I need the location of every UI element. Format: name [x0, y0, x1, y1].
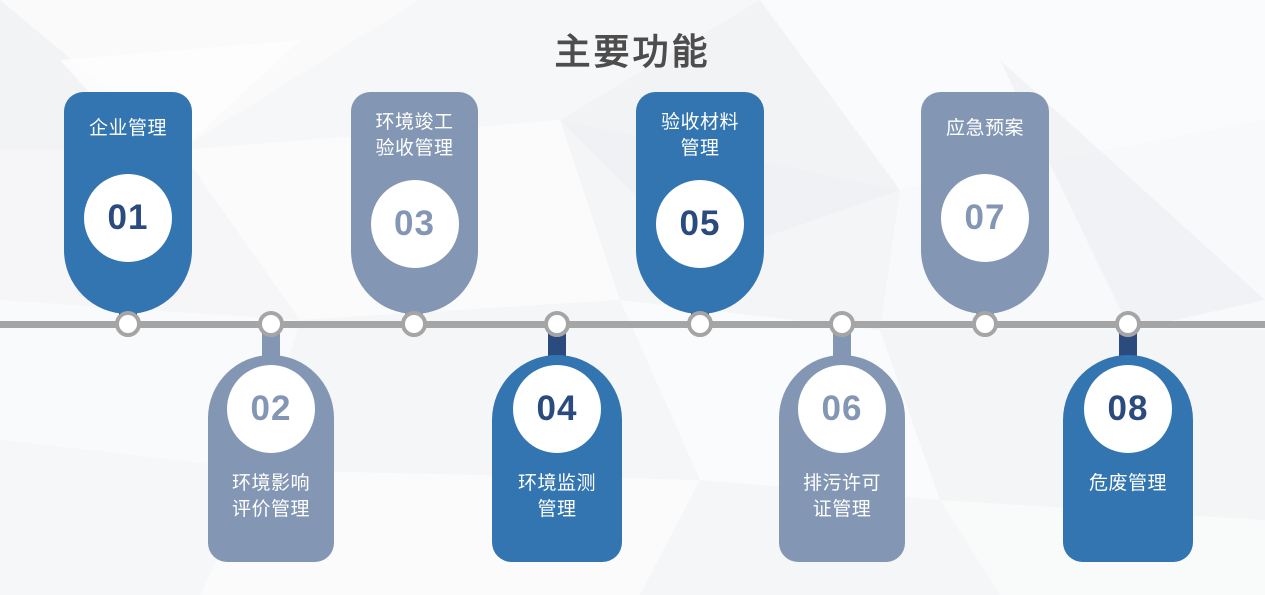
feature-card-06[interactable]: 06排污许可 证管理: [779, 355, 905, 562]
feature-card-01[interactable]: 企业管理01: [64, 92, 192, 314]
card-label-06: 排污许可 证管理: [803, 471, 881, 523]
card-label-07: 应急预案: [946, 116, 1024, 142]
card-number-badge-06: 06: [798, 365, 886, 453]
card-body-05: 验收材料 管理05: [636, 92, 764, 314]
card-number-badge-07: 07: [941, 174, 1029, 262]
card-number-badge-03: 03: [371, 180, 459, 268]
card-label-08: 危废管理: [1089, 471, 1167, 497]
timeline-node-02[interactable]: [258, 311, 284, 337]
card-number-badge-01: 01: [84, 174, 172, 262]
feature-card-03[interactable]: 环境竣工 验收管理03: [351, 92, 478, 314]
feature-card-02[interactable]: 02环境影响 评价管理: [208, 355, 334, 562]
card-body-02: 02环境影响 评价管理: [208, 355, 334, 562]
card-body-07: 应急预案07: [921, 92, 1049, 314]
timeline-node-06[interactable]: [829, 311, 855, 337]
feature-card-07[interactable]: 应急预案07: [921, 92, 1049, 314]
card-number-badge-02: 02: [227, 365, 315, 453]
card-body-06: 06排污许可 证管理: [779, 355, 905, 562]
feature-card-08[interactable]: 08危废管理: [1063, 355, 1193, 562]
timeline-node-01[interactable]: [115, 311, 141, 337]
timeline-node-04[interactable]: [544, 311, 570, 337]
timeline-node-05[interactable]: [687, 311, 713, 337]
card-body-03: 环境竣工 验收管理03: [351, 92, 478, 314]
timeline-axis: [0, 321, 1265, 328]
timeline-node-08[interactable]: [1115, 311, 1141, 337]
card-label-02: 环境影响 评价管理: [232, 471, 310, 523]
timeline-node-07[interactable]: [972, 311, 998, 337]
card-body-04: 04环境监测 管理: [492, 355, 622, 562]
infographic-canvas: 主要功能 企业管理0102环境影响 评价管理环境竣工 验收管理0304环境监测 …: [0, 0, 1265, 595]
card-label-05: 验收材料 管理: [661, 110, 739, 162]
card-number-badge-08: 08: [1084, 365, 1172, 453]
card-number-badge-05: 05: [656, 180, 744, 268]
page-title: 主要功能: [0, 26, 1265, 78]
card-number-badge-04: 04: [513, 365, 601, 453]
feature-card-05[interactable]: 验收材料 管理05: [636, 92, 764, 314]
card-label-03: 环境竣工 验收管理: [375, 110, 453, 162]
card-label-04: 环境监测 管理: [518, 471, 596, 523]
card-label-01: 企业管理: [89, 116, 167, 142]
feature-card-04[interactable]: 04环境监测 管理: [492, 355, 622, 562]
timeline-node-03[interactable]: [401, 311, 427, 337]
card-body-08: 08危废管理: [1063, 355, 1193, 562]
card-body-01: 企业管理01: [64, 92, 192, 314]
